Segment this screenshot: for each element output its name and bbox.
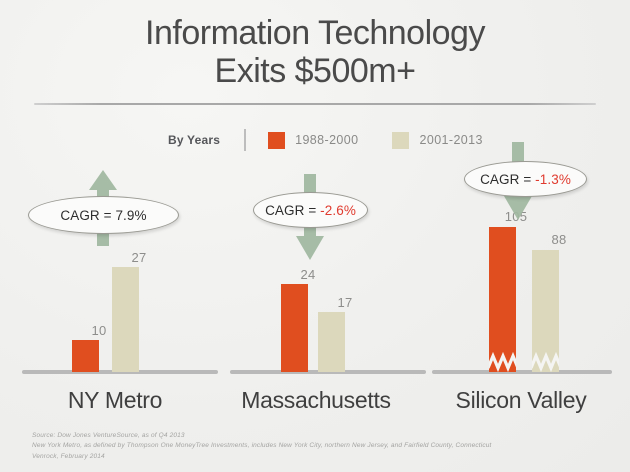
bar-massachusetts-1988-2000[interactable] — [281, 284, 308, 372]
axis-break-zigzag-icon-1 — [489, 346, 516, 372]
category-label-massachusetts: Massachusetts — [206, 387, 426, 414]
bar-value-massachusetts-1988-2000: 24 — [278, 267, 338, 282]
bar-massachusetts-2001-2013[interactable] — [318, 312, 345, 372]
footnote-line-1: Source: Dow Jones VentureSource, as of Q… — [32, 431, 612, 442]
footnote-line-2: New York Metro, as defined by Thompson O… — [32, 441, 612, 452]
bar-ny-metro-2001-2013[interactable] — [112, 267, 139, 372]
category-label-ny-metro: NY Metro — [5, 387, 225, 414]
footnote-line-3: Venrock, February 2014 — [32, 452, 612, 463]
cagr-bubble-silicon-valley[interactable]: CAGR = -1.3% — [464, 161, 587, 197]
bar-value-ny-metro-2001-2013: 27 — [109, 250, 169, 265]
baseline-silicon-valley — [432, 370, 612, 374]
cagr-text-silicon-valley: CAGR = -1.3% — [480, 172, 571, 187]
bar-value-massachusetts-2001-2013: 17 — [315, 295, 375, 310]
cagr-text-ny-metro: CAGR = 7.9% — [60, 208, 146, 223]
bar-ny-metro-1988-2000[interactable] — [72, 340, 99, 372]
cagr-bubble-ny-metro[interactable]: CAGR = 7.9% — [28, 196, 179, 234]
source-footnote: Source: Dow Jones VentureSource, as of Q… — [32, 431, 612, 463]
category-label-silicon-valley: Silicon Valley — [411, 387, 630, 414]
axis-break-zigzag-icon-2 — [532, 346, 559, 372]
bar-value-silicon-valley-2001-2013: 88 — [529, 232, 589, 247]
cagr-bubble-massachusetts[interactable]: CAGR = -2.6% — [253, 192, 368, 228]
cagr-text-massachusetts: CAGR = -2.6% — [265, 203, 356, 218]
slide-canvas: Information Technology Exits $500m+ By Y… — [0, 0, 630, 472]
